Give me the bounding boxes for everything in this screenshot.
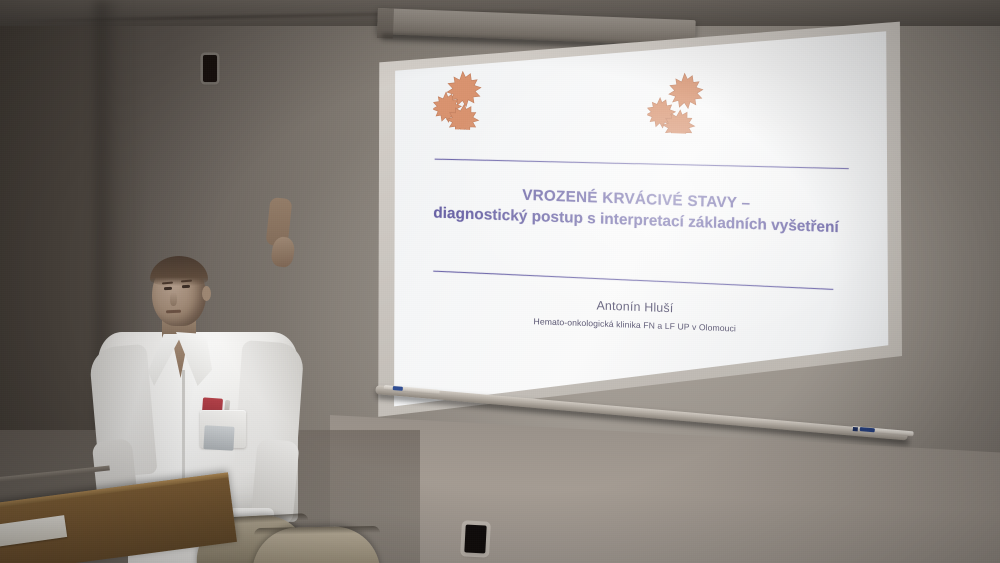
presentation-slide: VROZENÉ KRVÁCIVÉ STAVY – diagnostický po… (388, 47, 884, 413)
slide-author-block: Antonín Hluší Hemato-onkologická klinika… (409, 292, 861, 338)
presenter-pocket-card (203, 425, 234, 451)
presenter-nose (170, 292, 177, 306)
marker-left-cap (393, 386, 403, 391)
presenter-ear (202, 286, 211, 301)
presenter-mouth (166, 310, 181, 313)
rule-below-title (433, 271, 833, 290)
slide-title-block: VROZENÉ KRVÁCIVÉ STAVY – diagnostický po… (410, 182, 862, 240)
light-switch[interactable] (203, 55, 217, 82)
blood-cell-cluster-right-icon (647, 66, 710, 134)
power-outlet[interactable] (464, 524, 486, 553)
marker-right-clip (853, 427, 858, 432)
presenter-hair (150, 256, 208, 286)
lecture-room-photo: VROZENÉ KRVÁCIVÉ STAVY – diagnostický po… (0, 0, 1000, 563)
blood-cell-cluster-left-icon (433, 67, 492, 131)
rule-above-title (435, 159, 849, 169)
